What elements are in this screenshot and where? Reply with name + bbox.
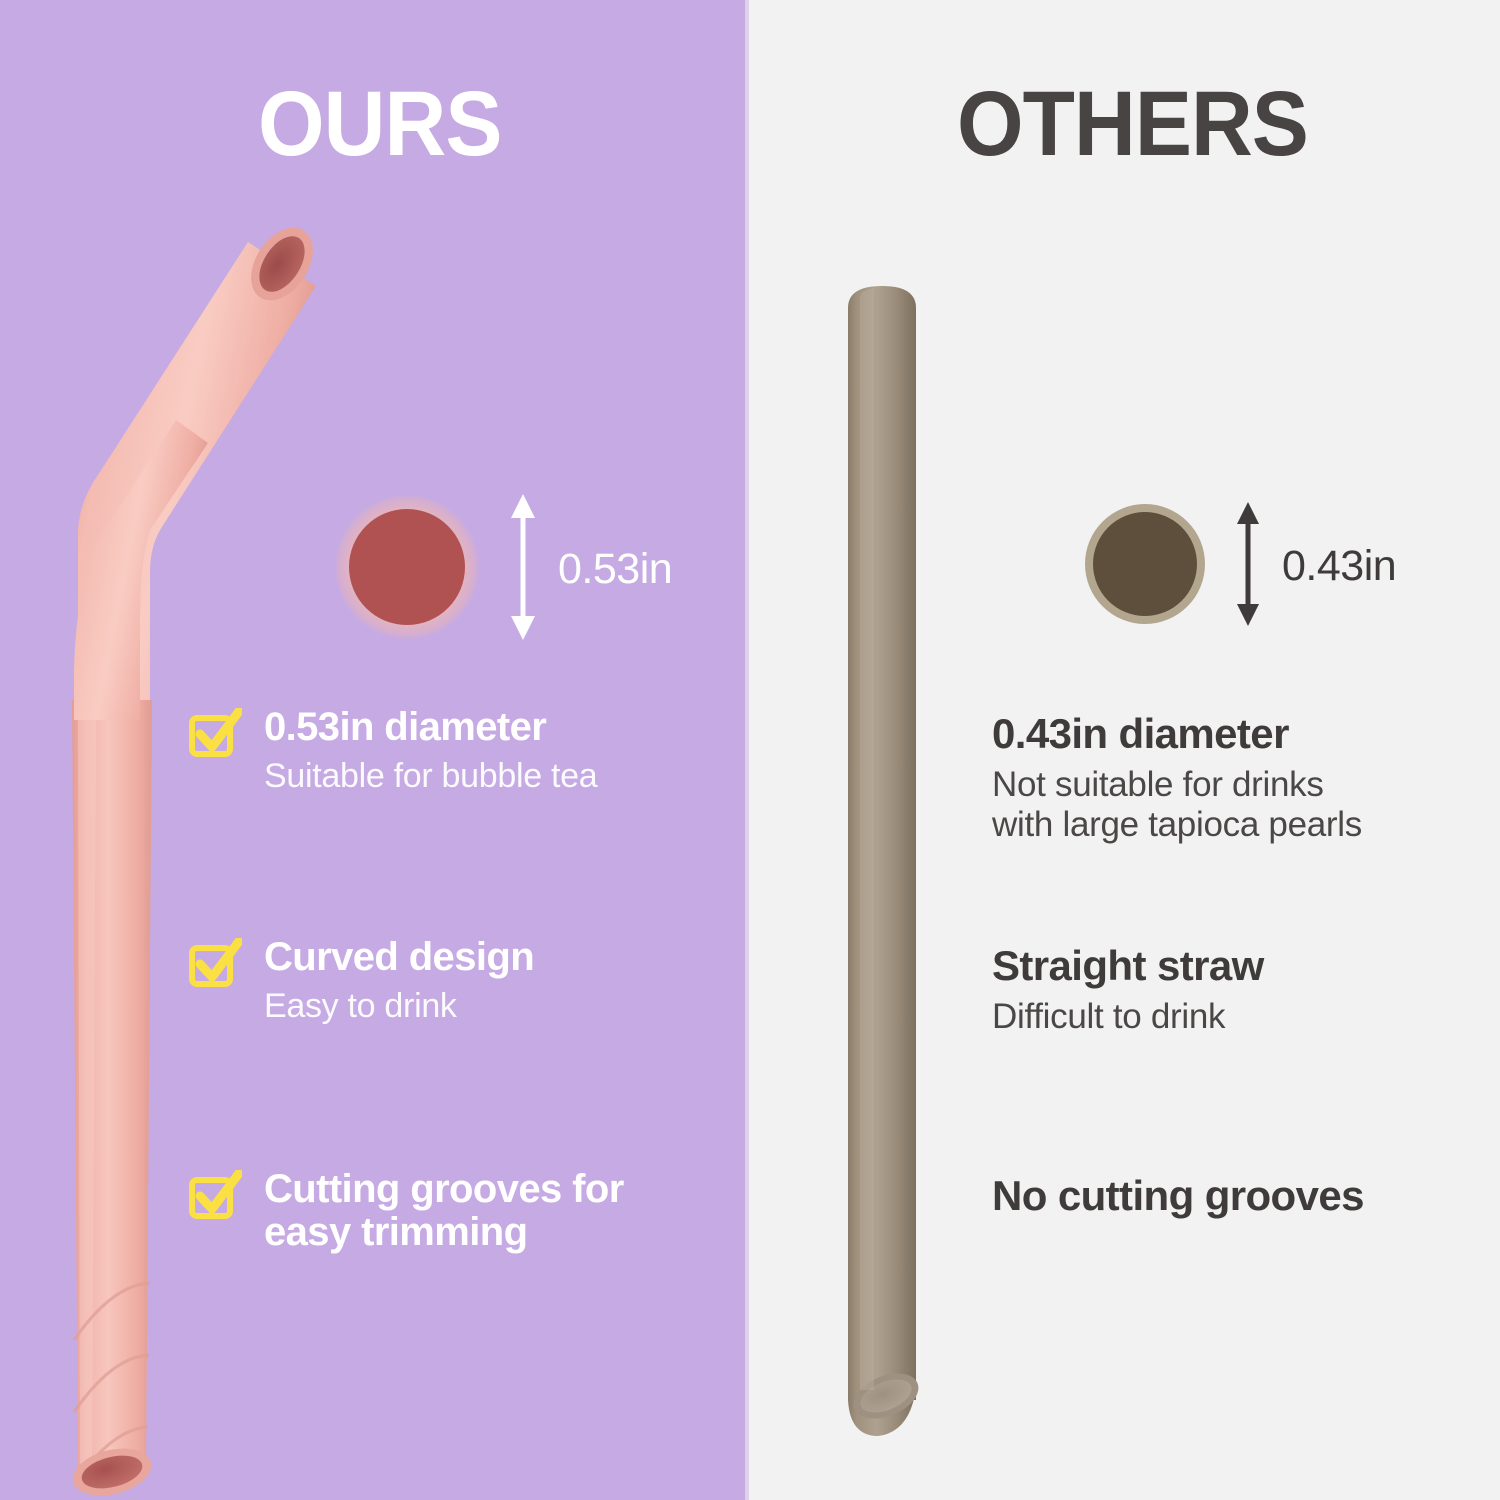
feature-item: Cutting grooves for easy trimming (188, 1168, 624, 1254)
feature-item: Curved design Easy to drink (188, 936, 534, 1026)
product-image-others-straw (800, 250, 980, 1470)
feature-title: No cutting grooves (992, 1172, 1364, 1219)
diameter-label-others: 0.43in (1282, 542, 1396, 591)
feature-item: Straight straw Difficult to drink (992, 944, 1264, 1037)
diameter-label-ours: 0.53in (558, 545, 672, 594)
checkbox-checked-icon (188, 938, 242, 992)
checkbox-checked-icon (188, 1170, 242, 1224)
checkbox-checked-icon (188, 708, 242, 762)
dimension-arrow-others (1234, 500, 1262, 633)
diameter-callout-others: 0.43in (1082, 500, 1396, 633)
feature-subtitle: Difficult to drink (992, 997, 1264, 1037)
heading-ours: OURS (258, 78, 501, 170)
cross-section-circle-ours (332, 492, 482, 647)
feature-item: 0.53in diameter Suitable for bubble tea (188, 706, 597, 796)
feature-title: Curved design (264, 935, 534, 979)
feature-title: 0.53in diameter (264, 705, 546, 749)
feature-title: 0.43in diameter (992, 710, 1289, 757)
feature-item: 0.43in diameter Not suitable for drinks … (992, 712, 1362, 845)
feature-item: No cutting grooves (992, 1174, 1364, 1219)
dimension-arrow-ours (508, 492, 538, 647)
panel-divider (745, 0, 749, 1500)
feature-subtitle: Not suitable for drinks with large tapio… (992, 765, 1362, 845)
feature-title: Straight straw (992, 942, 1264, 989)
comparison-infographic: OURS OTHERS (0, 0, 1500, 1500)
diameter-callout-ours: 0.53in (332, 492, 672, 647)
heading-others: OTHERS (957, 78, 1308, 170)
product-image-ours-straw (0, 200, 340, 1500)
feature-subtitle: Suitable for bubble tea (264, 757, 597, 796)
feature-subtitle: Easy to drink (264, 987, 534, 1026)
feature-title: Cutting grooves for easy trimming (264, 1167, 624, 1254)
cross-section-circle-others (1082, 501, 1208, 632)
